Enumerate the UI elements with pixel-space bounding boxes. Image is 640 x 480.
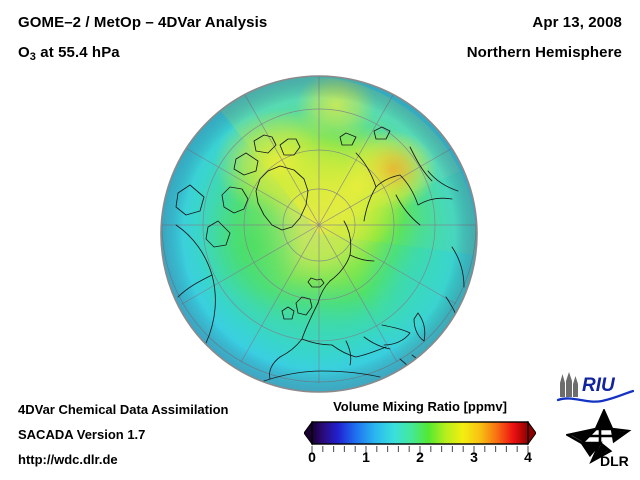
colorbar-ramp: [312, 422, 528, 444]
dlr-logo: DLR: [566, 409, 636, 469]
colorbar-cap-left: [304, 422, 312, 444]
riu-logo: RIU: [556, 371, 634, 405]
colorbar: Volume Mixing Ratio [ppmv] 01234: [312, 399, 528, 475]
colorbar-tick-label: 1: [346, 449, 386, 465]
riu-spires-icon: [560, 372, 578, 397]
date-label: Apr 13, 2008: [532, 14, 622, 31]
footer-line-version: SACADA Version 1.7: [18, 427, 145, 442]
colorbar-tick-label: 4: [508, 449, 548, 465]
region-label: Northern Hemisphere: [467, 44, 622, 61]
species-level: at 55.4 hPa: [36, 44, 120, 61]
colorbar-tick-label: 3: [454, 449, 494, 465]
species-prefix: O: [18, 44, 30, 61]
dlr-wordmark: DLR: [600, 453, 629, 469]
colorbar-tick-labels: 01234: [304, 449, 536, 471]
colorbar-tick-label: 2: [400, 449, 440, 465]
species-label: O3 at 55.4 hPa: [18, 44, 120, 63]
figure-canvas: GOME–2 / MetOp – 4DVar Analysis O3 at 55…: [0, 0, 640, 480]
footer-line-assimilation: 4DVar Chemical Data Assimilation: [18, 402, 229, 417]
riu-wordmark: RIU: [582, 375, 616, 396]
colorbar-tick-label: 0: [292, 449, 332, 465]
globe-map: [160, 75, 478, 393]
page-title: GOME–2 / MetOp – 4DVar Analysis: [18, 14, 267, 31]
footer-line-url[interactable]: http://wdc.dlr.de: [18, 452, 118, 467]
colorbar-cap-right: [528, 422, 536, 444]
colorbar-title: Volume Mixing Ratio [ppmv]: [312, 399, 528, 414]
